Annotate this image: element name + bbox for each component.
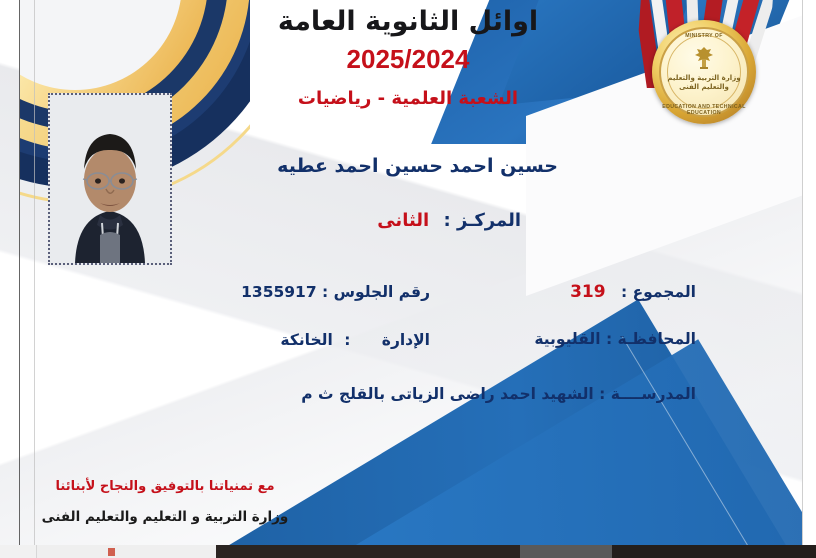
taskbar-segment-dark — [216, 545, 520, 558]
academic-year: 2025/2024 — [0, 44, 816, 75]
school-row: المدرســــة : الشهيد احمد راضى الزياتى ب… — [301, 385, 696, 403]
seat-number-value: 1355917 — [241, 283, 317, 301]
rank-label: المركـز : — [444, 210, 521, 231]
total-value: 319 — [570, 282, 616, 302]
footer-ministry: وزارة التربية و التعليم والتعليم الفنى — [0, 509, 330, 525]
administration-separator: : — [338, 331, 376, 349]
footer-wishes: مع تمنياتنا بالتوفيق والنجاح لأبنائنا — [0, 479, 330, 494]
page-title: اوائل الثانوية العامة — [0, 6, 816, 37]
right-page-margin — [802, 0, 816, 545]
student-name: حسين احمد حسين احمد عطيه — [277, 155, 558, 177]
school-label: المدرســــة : — [599, 385, 696, 403]
taskbar-segment-light — [36, 545, 216, 558]
administration-row: الإدارة : الخانكة — [280, 331, 430, 349]
left-page-rule — [19, 0, 20, 545]
taskbar-start-area[interactable] — [0, 545, 37, 558]
taskbar-segment-grey — [520, 545, 612, 558]
governorate-label: المحافظـة : — [606, 330, 696, 348]
school-value: الشهيد احمد راضى الزياتى بالقلج ث م — [301, 385, 594, 403]
administration-value: الخانكة — [280, 331, 332, 349]
certificate-canvas: MINISTRY OF وزارة التربية والتعليم والتع… — [0, 0, 816, 545]
screenshot-root: MINISTRY OF وزارة التربية والتعليم والتع… — [0, 0, 816, 558]
governorate-value: القليوبية — [534, 330, 600, 348]
total-label: المجموع : — [621, 283, 696, 301]
governorate-row: المحافظـة : القليوبية — [534, 330, 696, 348]
rank-row: المركـز : الثانى — [377, 210, 521, 231]
student-photo — [48, 93, 172, 265]
administration-label: الإدارة — [382, 331, 430, 349]
seat-number-row: رقم الجلوس : 1355917 — [241, 283, 430, 301]
total-row: المجموع : 319 — [570, 282, 696, 302]
bottom-taskbar[interactable] — [0, 545, 816, 558]
taskbar-app-icon[interactable] — [108, 548, 115, 556]
seat-number-label: رقم الجلوس : — [322, 283, 430, 301]
student-portrait-illustration — [50, 95, 170, 263]
left-page-rule-secondary — [34, 0, 35, 545]
rank-value: الثانى — [377, 210, 437, 231]
right-page-rule — [802, 0, 803, 545]
